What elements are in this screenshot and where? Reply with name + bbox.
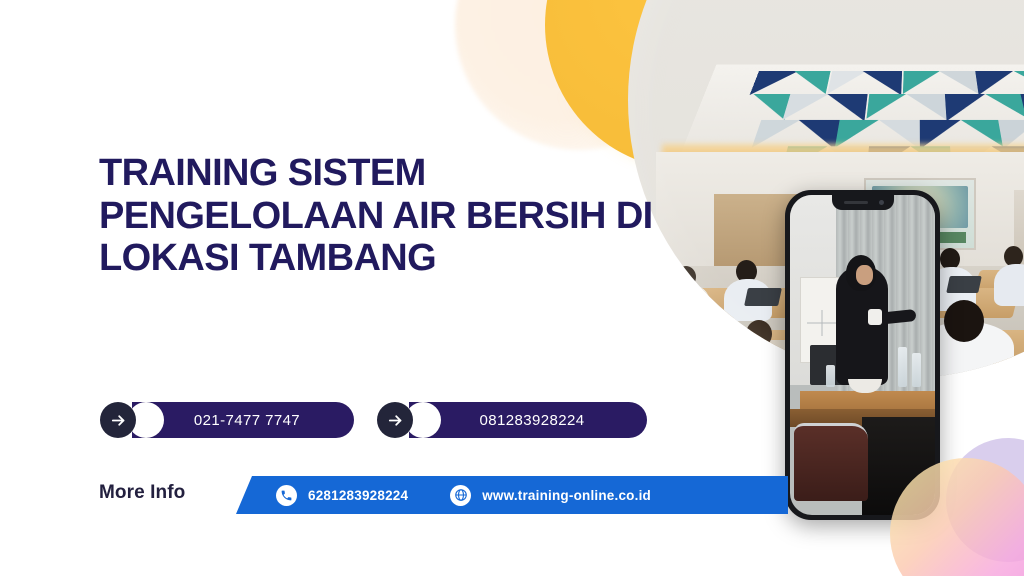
training-banner: TRAINING SISTEM PENGELOLAAN AIR BERSIH D… [0, 0, 1024, 576]
info-item-website[interactable]: www.training-online.co.id [450, 485, 651, 506]
arrow-right-icon [377, 402, 413, 438]
more-info-label: More Info [99, 482, 185, 504]
info-item-phone[interactable]: 6281283928224 [276, 485, 408, 506]
contact-pill-label-2: 081283928224 [409, 402, 647, 438]
phone-notch [832, 195, 894, 210]
more-info-bar: 6281283928224 www.training-online.co.id [236, 476, 788, 514]
phone-icon [276, 485, 297, 506]
globe-icon [450, 485, 471, 506]
contact-pill-phone-2[interactable]: 081283928224 [377, 402, 647, 438]
phone-video-mockup [785, 190, 940, 520]
contact-pill-phone-1[interactable]: 021-7477 7747 [100, 402, 354, 438]
contact-pill-label-1: 021-7477 7747 [132, 402, 354, 438]
info-phone-text: 6281283928224 [308, 488, 408, 503]
info-website-text: www.training-online.co.id [482, 488, 651, 503]
arrow-right-icon [100, 402, 136, 438]
page-title: TRAINING SISTEM PENGELOLAAN AIR BERSIH D… [99, 152, 659, 280]
lavender-circle-decoration [946, 438, 1024, 562]
office-chair [794, 423, 868, 501]
contact-pill-row: 021-7477 7747 081283928224 [100, 402, 647, 438]
